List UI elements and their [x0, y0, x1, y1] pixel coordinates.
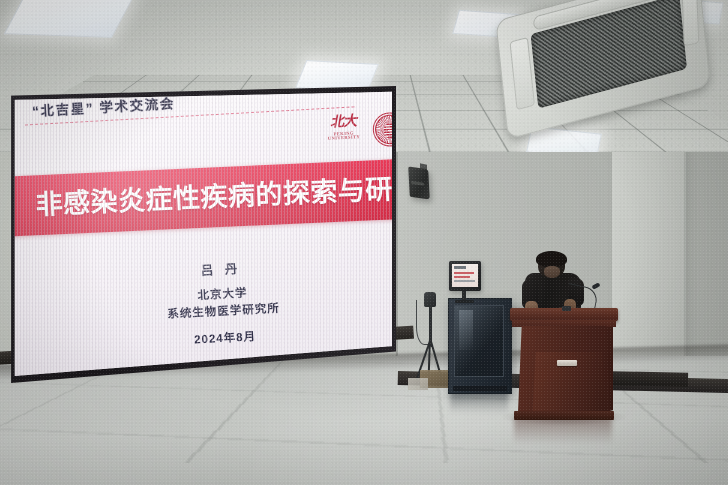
- ceiling-light-panel-1: [4, 0, 134, 38]
- wooden-lectern: [513, 308, 615, 420]
- lectern-body: [518, 326, 610, 412]
- led-presentation-screen[interactable]: “北吉星” 学术交流会 北大 PEKING UNIVERSITY 非感染炎症性疾…: [8, 86, 396, 386]
- cabinet-glass-door[interactable]: [454, 305, 504, 377]
- presentation-slide: “北吉星” 学术交流会 北大 PEKING UNIVERSITY 非感染炎症性疾…: [11, 90, 392, 381]
- peking-university-logo: 北大 PEKING UNIVERSITY: [321, 111, 392, 152]
- cabinet-base: [453, 386, 507, 391]
- lectern-front-lip: [512, 320, 616, 327]
- microphone-base: [562, 306, 571, 311]
- monitor-base: [455, 300, 474, 303]
- confidence-monitor: [449, 261, 481, 291]
- ac-vane-right: [681, 0, 699, 46]
- pku-wordmark-text: 北大: [329, 115, 356, 131]
- monitor-screen-line-1: [454, 272, 474, 274]
- monitor-screen: [452, 264, 478, 287]
- av-equipment-cabinet: [448, 298, 512, 394]
- wall-mounted-loudspeaker: [408, 166, 430, 199]
- presenter-hair: [536, 251, 567, 267]
- monitor-screen-line-2: [454, 276, 470, 278]
- monitor-screen-line-3: [454, 280, 475, 282]
- lectern-base: [514, 411, 614, 420]
- slide-byline: 吕 丹 北京大学 系统生物医学研究所 2024年8月: [11, 248, 392, 359]
- monitor-screen-titlebar: [454, 266, 466, 269]
- screen-display-area: “北吉星” 学术交流会 北大 PEKING UNIVERSITY 非感染炎症性疾…: [11, 90, 392, 381]
- pku-wordmark-subtext: PEKING UNIVERSITY: [322, 131, 364, 143]
- floor-box-light: [408, 378, 428, 390]
- podium-floor-reflection: [514, 418, 612, 444]
- wall-column-base: [612, 371, 688, 387]
- presenter-face: [544, 266, 560, 278]
- pku-wordmark: 北大 PEKING UNIVERSITY: [322, 115, 366, 147]
- pku-seal-icon: [371, 112, 392, 148]
- lectern-name-plaque: [557, 360, 577, 366]
- lecture-room-photo: “北吉星” 学术交流会 北大 PEKING UNIVERSITY 非感染炎症性疾…: [0, 0, 728, 485]
